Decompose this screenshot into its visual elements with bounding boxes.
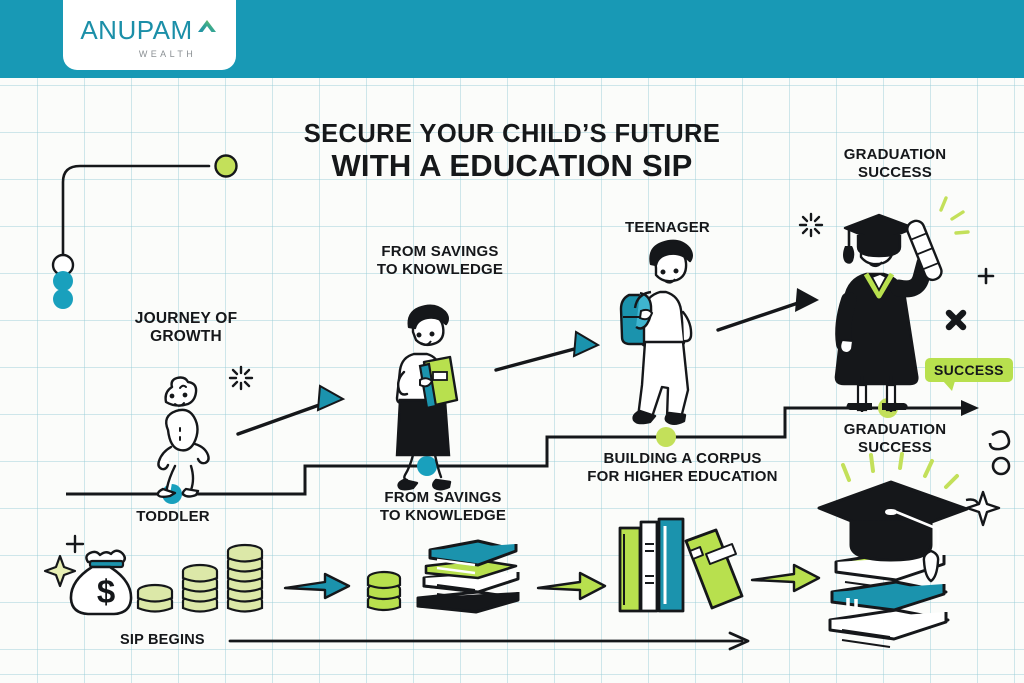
toddler-figure-icon <box>158 378 209 497</box>
cross-decor-icon <box>949 313 963 327</box>
label-from-savings-top: FROM SAVINGS TO KNOWLEDGE <box>340 243 540 278</box>
step-dot-graduate <box>878 398 898 418</box>
svg-text:$: $ <box>97 573 115 610</box>
infographic-canvas: ANUPAM WEALTH SECURE YOUR CHILD’S FUTURE… <box>0 0 1024 683</box>
label-graduation-success-top: GRADUATION SUCCESS <box>800 146 990 181</box>
curl-decor-icon <box>966 500 978 505</box>
teenager-backpack-figure-icon <box>621 241 692 424</box>
sparkle-diamond-icon-2 <box>967 492 999 525</box>
label-graduation-success-bottom: GRADUATION SUCCESS <box>800 421 990 456</box>
step-dot-teenager <box>656 427 676 447</box>
sparkle-diamond-icon <box>45 556 75 586</box>
label-from-savings-bottom: FROM SAVINGS TO KNOWLEDGE <box>348 489 538 524</box>
status-badge-success: SUCCESS <box>925 358 1013 382</box>
label-journey-of-growth: JOURNEY OF GROWTH <box>106 310 266 346</box>
brand-tagline: WEALTH <box>139 49 196 59</box>
brand-name: ANUPAM <box>80 15 192 46</box>
standing-books-row-icon <box>620 519 742 611</box>
lime-arrow-icon-1 <box>538 573 605 599</box>
chevron-up-icon <box>195 16 219 43</box>
stage-arrow-2 <box>496 332 598 370</box>
label-building-a-corpus: BUILDING A CORPUS FOR HIGHER EDUCATION <box>575 450 790 485</box>
lime-arrow-icon-2 <box>752 565 819 591</box>
stage-arrow-3 <box>718 288 819 330</box>
cap-shine <box>843 454 957 487</box>
logo-wordmark-row: ANUPAM <box>80 15 218 46</box>
money-bag-with-coins-icon: $ <box>45 536 262 614</box>
graduation-cap-on-books-icon <box>819 431 1009 647</box>
stage-arrow-1 <box>238 386 343 434</box>
brand-logo-card: ANUPAM WEALTH <box>63 0 236 70</box>
label-teenager: TEENAGER <box>590 219 745 237</box>
sip-timeline-arrow <box>230 633 748 649</box>
step-dot-schoolboy <box>417 456 437 476</box>
headline-line-1: SECURE YOUR CHILD’S FUTURE <box>0 120 1024 149</box>
plus-decor-icon <box>979 269 993 283</box>
sparkle-graduate-icon <box>800 214 822 236</box>
sparkle-star-icon <box>67 536 83 552</box>
teal-arrow-icon <box>285 574 349 598</box>
coins-with-stacked-books-icon <box>368 541 518 612</box>
sparkle-toddler-icon <box>230 367 252 389</box>
swirl-decor-icon <box>990 431 1009 474</box>
step-dot-toddler <box>162 484 182 504</box>
diploma-shine <box>941 198 968 233</box>
label-toddler: TODDLER <box>98 508 248 526</box>
staircase-arrowhead <box>961 400 979 416</box>
label-sip-begins: SIP BEGINS <box>120 632 240 649</box>
schoolboy-figure-icon <box>397 306 457 490</box>
